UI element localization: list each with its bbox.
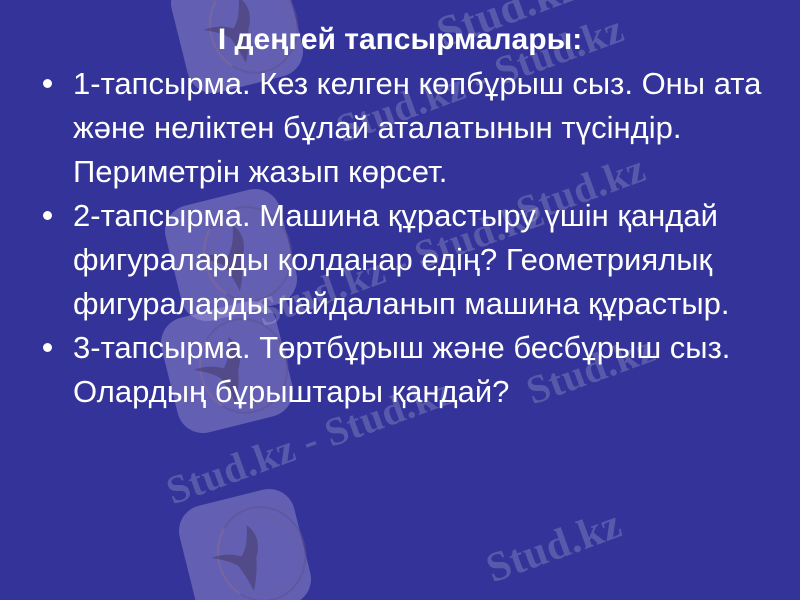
list-item: 1-тапсырма. Кез келген көпбұрыш сыз. Оны… [30,62,786,194]
bullet-dot-icon [43,343,52,352]
list-item-label: 2-тапсырма. Машина құрастыру үшін қандай… [73,194,786,326]
task-list: 1-тапсырма. Кез келген көпбұрыш сыз. Оны… [30,62,786,414]
list-item-label: 3-тапсырма. Төртбұрыш және бесбұрыш сыз.… [73,326,786,414]
list-item-label: 1-тапсырма. Кез келген көпбұрыш сыз. Оны… [73,62,786,194]
slide-content: I деңгей тапсырмалары: 1-тапсырма. Кез к… [0,0,800,600]
list-item: 2-тапсырма. Машина құрастыру үшін қандай… [30,194,786,326]
presentation-slide: Stud.kzStud.kz - Stud.kzStud.kzStud.kz -… [0,0,800,600]
list-item: 3-тапсырма. Төртбұрыш және бесбұрыш сыз.… [30,326,786,414]
page-title: I деңгей тапсырмалары: [0,22,800,58]
bullet-dot-icon [43,79,52,88]
bullet-dot-icon [43,211,52,220]
